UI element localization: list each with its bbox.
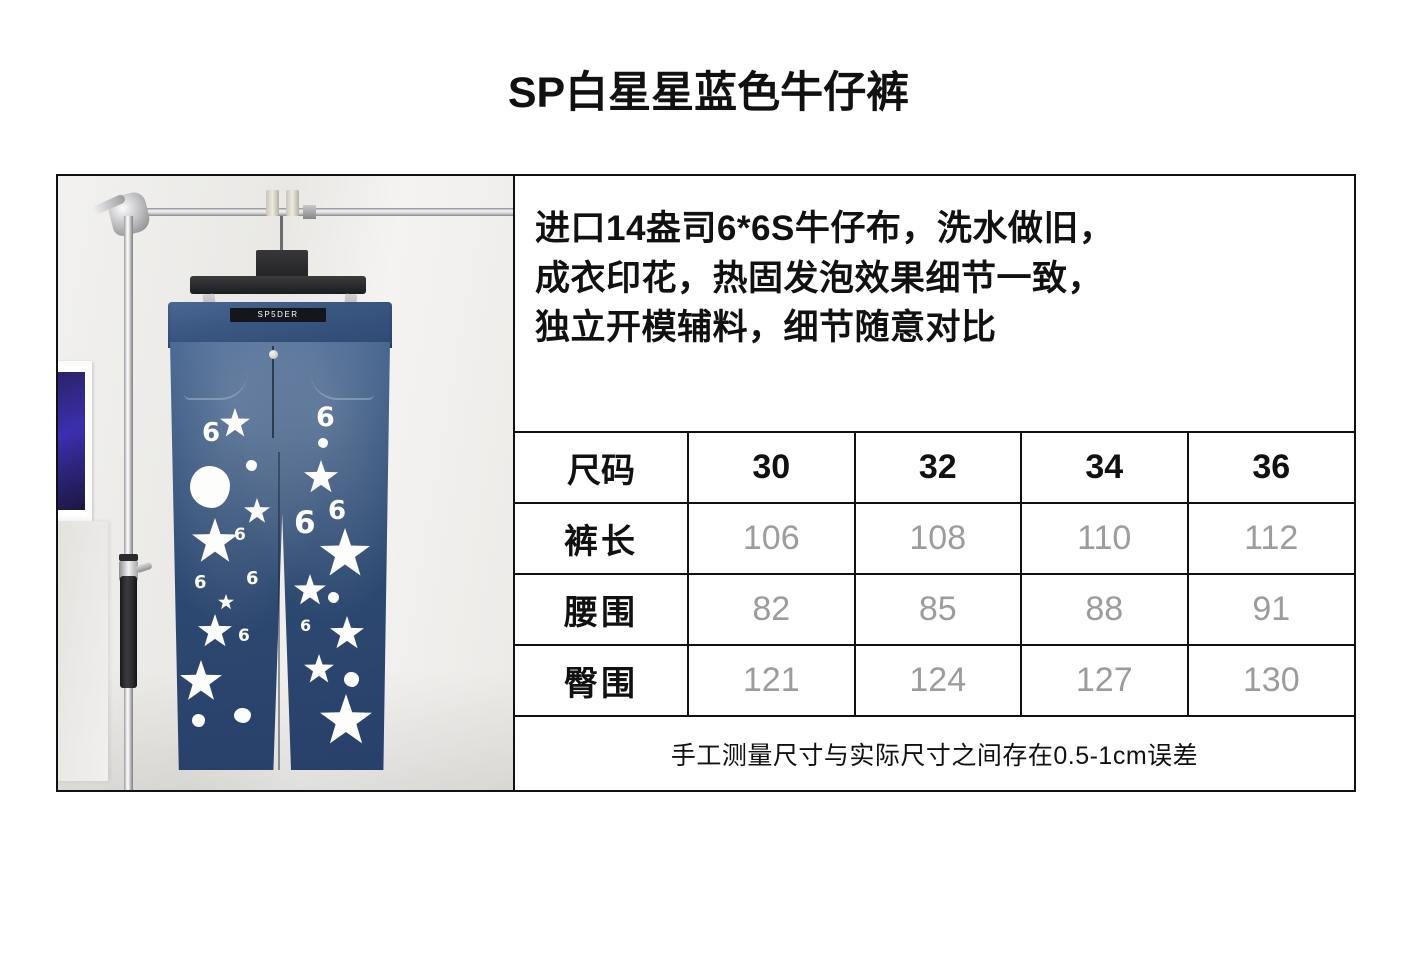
cell-length-30: 106 (688, 503, 855, 574)
table-row: 臀围 121 124 127 130 (515, 645, 1354, 715)
front-pocket-left (184, 354, 248, 400)
cell-hip-32: 124 (855, 645, 1022, 715)
cell-length-36: 112 (1188, 503, 1355, 574)
front-pocket-right (310, 354, 374, 400)
description-line: 进口14盎司6*6S牛仔布，洗水做旧， (535, 204, 1332, 254)
boom-collar (303, 205, 316, 219)
puff-number-print: 6 (202, 420, 220, 446)
cell-hip-30: 121 (688, 645, 855, 715)
brand-label: SP5DER (230, 308, 326, 322)
puff-number-print: 6 (194, 574, 207, 592)
puff-dot-print (344, 672, 359, 687)
jeans-product: SP5DER 6 6 6 6 6 6 (168, 302, 392, 772)
hanger-bar (190, 276, 366, 294)
hanger-hook (280, 216, 283, 252)
cell-waist-36: 91 (1188, 574, 1355, 645)
cell-length-32: 108 (855, 503, 1022, 574)
stand-pole (124, 216, 133, 790)
table-row: 腰围 82 85 88 91 (515, 574, 1354, 645)
cell-waist-32: 85 (855, 574, 1022, 645)
fabric-description: 进口14盎司6*6S牛仔布，洗水做旧， 成衣印花，热固发泡效果细节一致， 独立开… (515, 176, 1354, 433)
size-chart-table: 尺码 30 32 34 36 裤长 106 108 110 112 腰围 82 … (515, 433, 1354, 715)
jeans-button (269, 350, 278, 359)
puff-dot-print (234, 708, 251, 723)
puff-dot-print (246, 460, 257, 471)
description-line: 成衣印花，热固发泡效果细节一致， (535, 254, 1332, 304)
table-row-header: 尺码 30 32 34 36 (515, 433, 1354, 503)
jeans-waistband: SP5DER (168, 302, 392, 348)
stand-collar-ring (119, 554, 138, 561)
shelf-edge (58, 521, 108, 781)
puff-dot-print (192, 714, 205, 727)
page-title: SP白星星蓝色牛仔裤 (0, 58, 1417, 120)
product-photo: SP5DER 6 6 6 6 6 6 (58, 176, 515, 790)
puff-number-print: 6 (300, 618, 311, 634)
table-row: 裤长 106 108 110 112 (515, 503, 1354, 574)
size-header-30: 30 (688, 433, 855, 503)
fly-seam (272, 346, 274, 438)
cell-waist-30: 82 (688, 574, 855, 645)
backdrop-clip-left (266, 190, 279, 216)
stand-grip (120, 576, 137, 688)
puff-blob-print (190, 466, 230, 508)
backdrop-clip-right (286, 190, 299, 216)
puff-number-print: 6 (316, 404, 335, 431)
product-info-block: SP5DER 6 6 6 6 6 6 (56, 174, 1356, 792)
row-label-length: 裤长 (515, 503, 688, 574)
size-header-32: 32 (855, 433, 1022, 503)
hanger-head (256, 250, 308, 278)
size-header-label: 尺码 (515, 433, 688, 503)
row-label-hip: 臀围 (515, 645, 688, 715)
cell-hip-36: 130 (1188, 645, 1355, 715)
puff-dot-print (318, 438, 328, 448)
puff-dot-print (328, 592, 339, 603)
size-header-36: 36 (1188, 433, 1355, 503)
puff-number-print: 6 (328, 498, 346, 524)
info-panel: 进口14盎司6*6S牛仔布，洗水做旧， 成衣印花，热固发泡效果细节一致， 独立开… (515, 176, 1354, 790)
measurement-note: 手工测量尺寸与实际尺寸之间存在0.5-1cm误差 (515, 715, 1354, 790)
boom-arm (136, 208, 514, 216)
cell-waist-34: 88 (1021, 574, 1188, 645)
cell-hip-34: 127 (1021, 645, 1188, 715)
puff-number-print: 6 (234, 527, 246, 544)
puff-number-print: 6 (294, 508, 316, 539)
size-header-34: 34 (1021, 433, 1188, 503)
row-label-waist: 腰围 (515, 574, 688, 645)
puff-number-print: 6 (246, 570, 259, 588)
puff-number-print: 6 (238, 628, 250, 645)
cell-length-34: 110 (1021, 503, 1188, 574)
framed-artwork (58, 361, 92, 521)
description-line: 独立开模辅料，细节随意对比 (535, 303, 1332, 353)
inseam-gap (278, 452, 280, 770)
